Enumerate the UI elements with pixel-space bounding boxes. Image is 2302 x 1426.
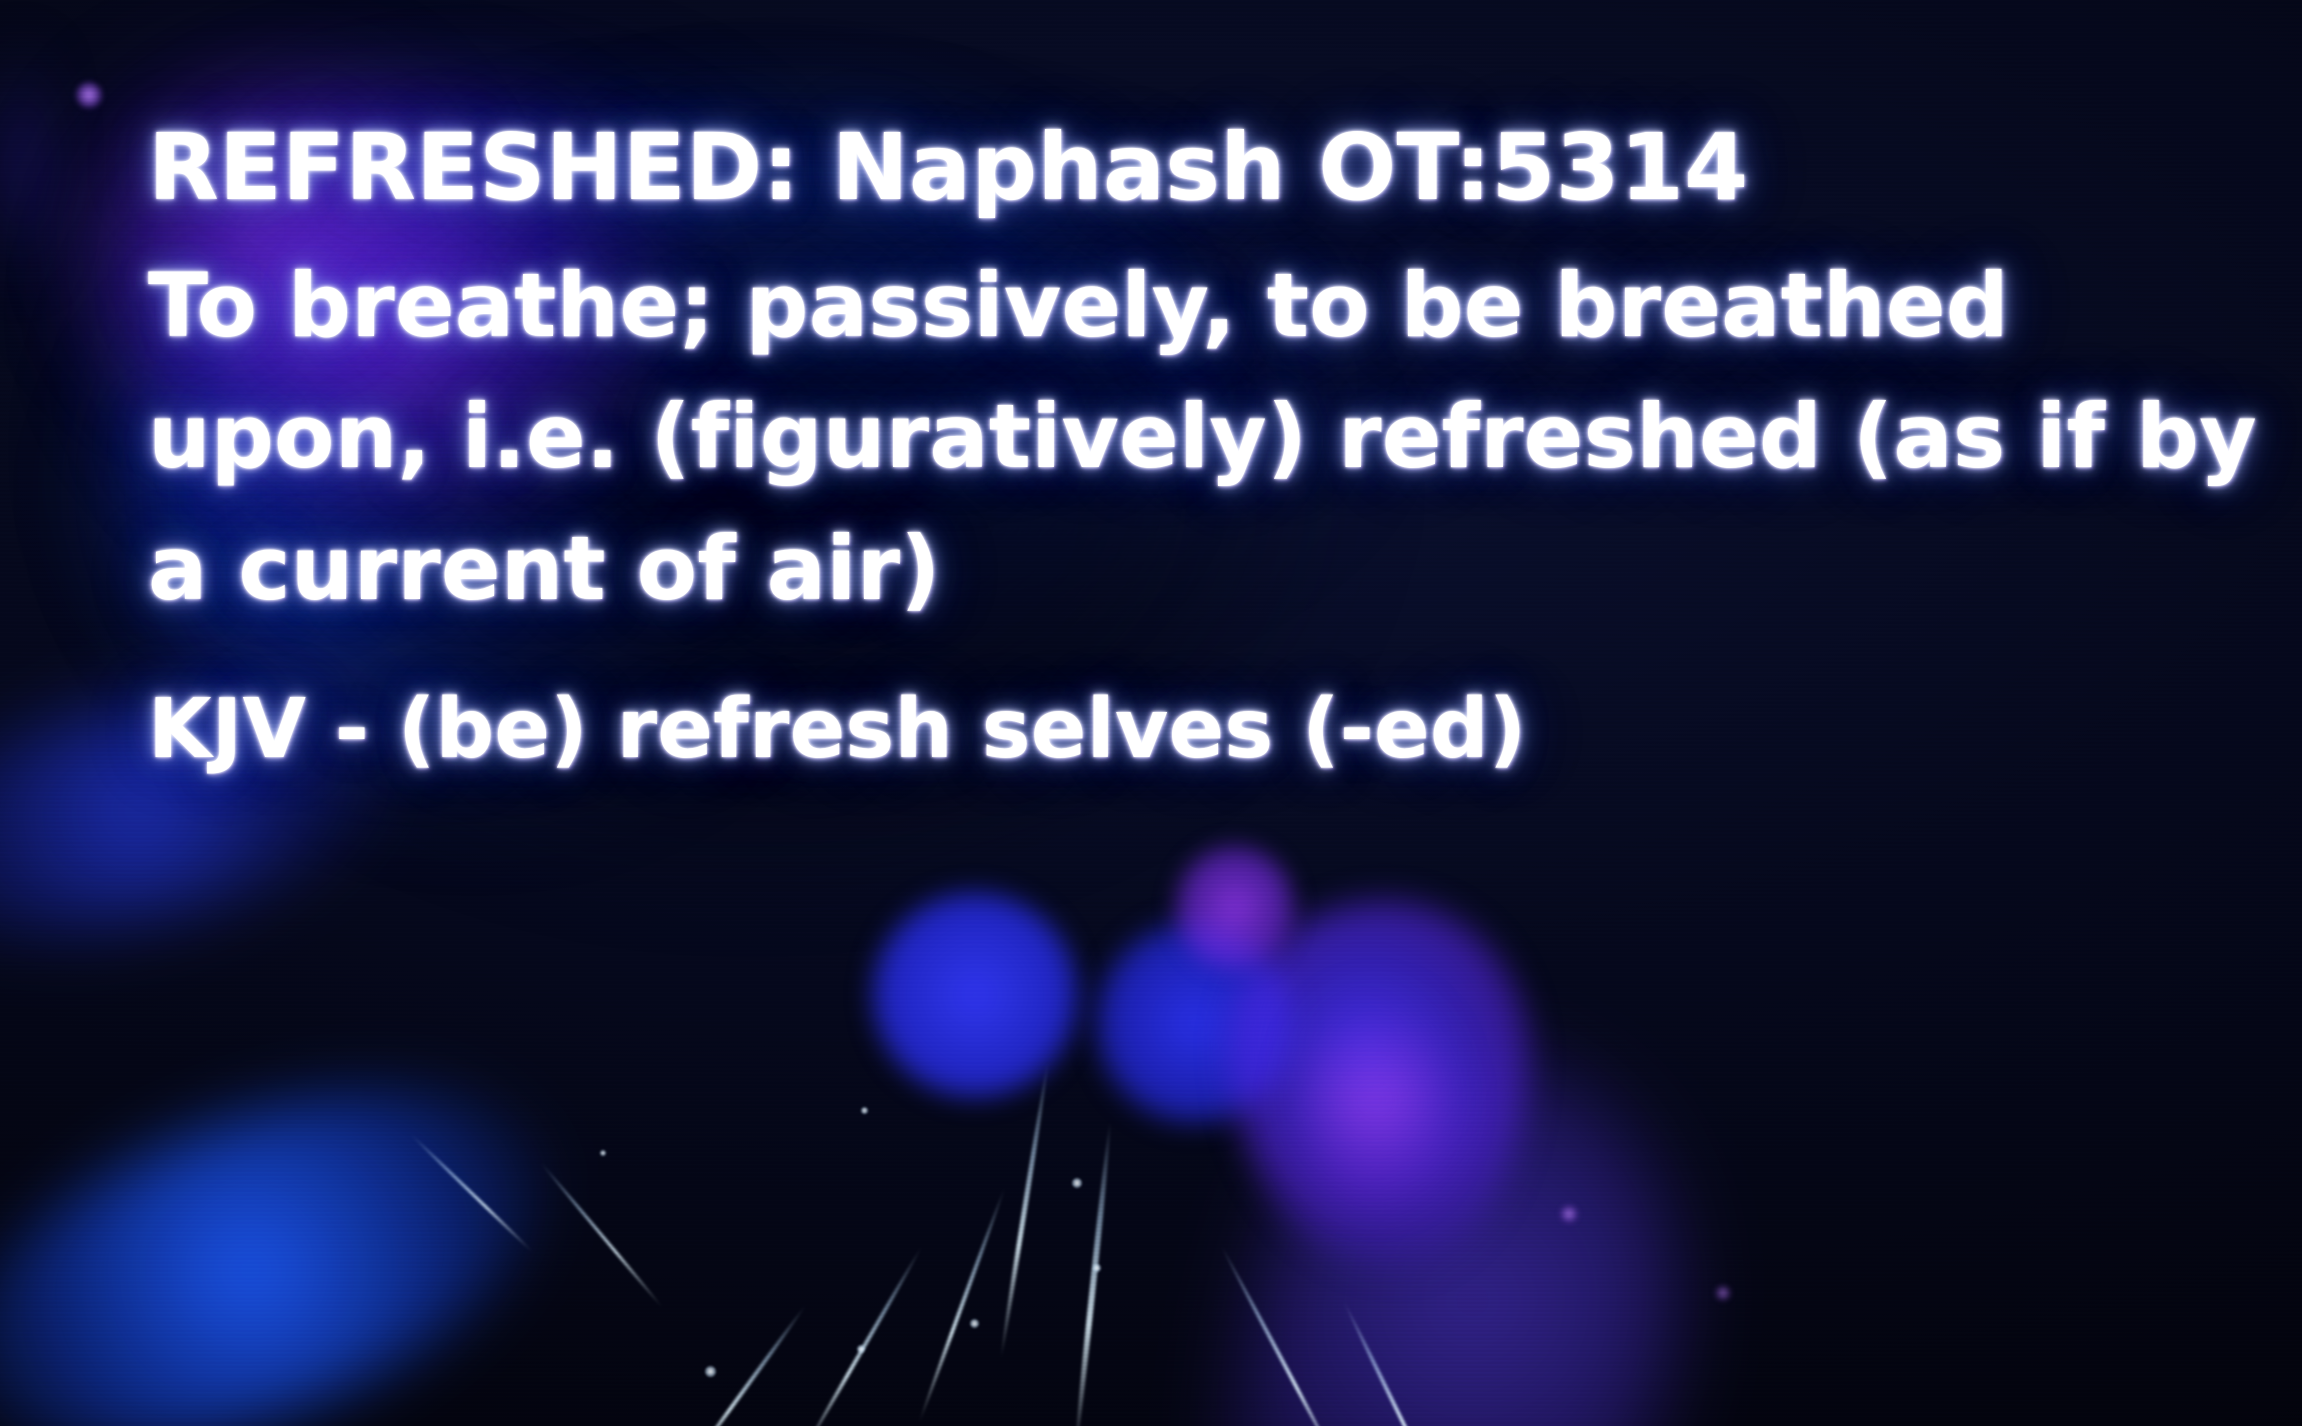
entry-title: REFRESHED: Naphash OT:5314	[148, 120, 2208, 217]
bokeh-dot-right	[1560, 1205, 1578, 1223]
bokeh-dot-farright	[1715, 1285, 1731, 1301]
bokeh-violet-teardrop	[1230, 900, 1530, 1270]
bokeh-lower-left-beam	[0, 1015, 594, 1426]
bokeh-violet-small	[1175, 845, 1295, 970]
definition-block: To breathe; passively, to be breathed up…	[148, 261, 2208, 614]
light-spark	[600, 1150, 606, 1156]
light-streak	[1342, 1300, 1442, 1426]
light-spark	[861, 1107, 868, 1114]
light-streak	[1219, 1244, 1345, 1426]
light-streak	[917, 1187, 1006, 1423]
definition-line: upon, i.e. (figuratively) refreshed (as …	[148, 392, 2208, 482]
light-streak	[800, 1245, 923, 1426]
bokeh-blue-large-right	[1095, 920, 1295, 1125]
light-spark	[970, 1319, 979, 1328]
light-spark	[1072, 1178, 1082, 1188]
definition-line: To breathe; passively, to be breathed	[148, 261, 2208, 351]
light-streak	[681, 1304, 808, 1426]
bokeh-dot-topleft	[76, 82, 102, 108]
bokeh-magenta-core	[1300, 1000, 1450, 1200]
light-spark	[705, 1366, 716, 1377]
light-streak	[999, 1061, 1051, 1358]
definition-line: a current of air)	[148, 524, 2208, 614]
bokeh-lower-right-violet-beam	[1132, 1002, 1748, 1426]
light-streak	[1073, 1121, 1113, 1426]
light-spark	[857, 1345, 865, 1353]
lexicon-entry-text: REFRESHED: Naphash OT:5314 To breathe; p…	[148, 120, 2208, 771]
bokeh-blue-large-center	[870, 890, 1080, 1100]
light-streak	[539, 1161, 663, 1308]
light-spark	[1093, 1264, 1101, 1272]
kjv-translation-line: KJV - (be) refresh selves (-ed)	[148, 688, 2208, 772]
lexicon-slide-screenshot: REFRESHED: Naphash OT:5314 To breathe; p…	[0, 0, 2302, 1426]
light-streak	[409, 1133, 533, 1253]
